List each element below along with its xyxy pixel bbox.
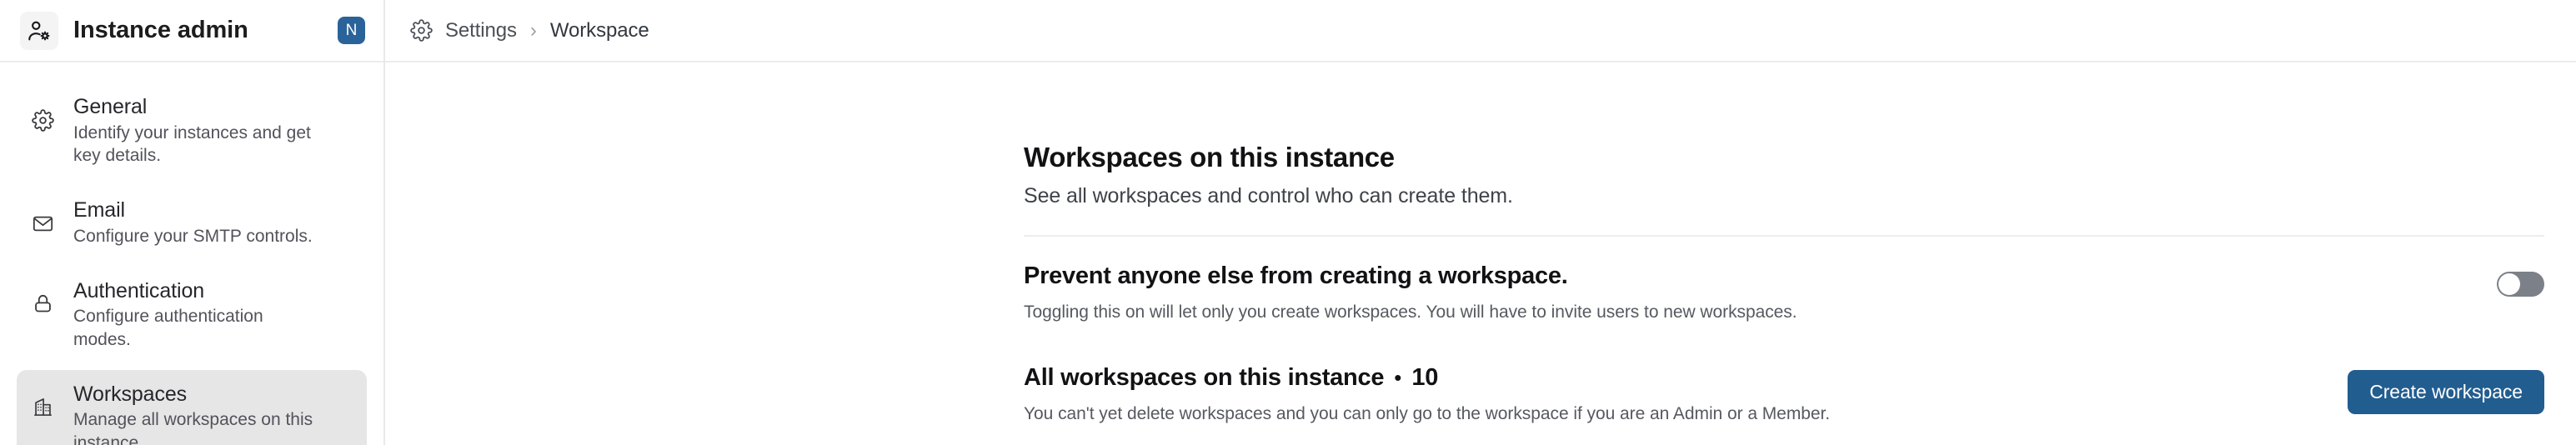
- envelope-icon: [28, 209, 57, 237]
- sidebar-item-desc: Configure your SMTP controls.: [73, 225, 313, 247]
- gear-icon: [28, 106, 57, 134]
- sidebar-item-email[interactable]: Email Configure your SMTP controls.: [17, 186, 367, 259]
- chevron-right-icon: ›: [530, 19, 537, 42]
- sidebar-item-label: Email: [73, 198, 125, 222]
- main-area: Settings › Workspace Workspaces on this …: [385, 0, 2576, 445]
- sidebar-item-text: General Identify your instances and get …: [73, 94, 323, 167]
- all-workspaces-heading: All workspaces on this instance • 10: [1024, 363, 1830, 392]
- all-workspaces-section: All workspaces on this instance • 10 You…: [1024, 323, 2544, 425]
- building-icon: [28, 393, 57, 422]
- page-title: Workspaces on this instance: [1024, 141, 2544, 174]
- instance-admin-icon: [20, 12, 58, 50]
- toggle-knob: [2498, 273, 2520, 295]
- sidebar-header: Instance admin N: [0, 0, 383, 62]
- all-workspaces-desc: You can't yet delete workspaces and you …: [1024, 402, 1830, 425]
- workspace-count: 10: [1411, 364, 1438, 392]
- intro-section: Workspaces on this instance See all work…: [1024, 62, 2544, 209]
- sidebar-item-text: Email Configure your SMTP controls.: [73, 197, 313, 247]
- create-workspace-button[interactable]: Create workspace: [2348, 370, 2544, 414]
- instance-badge[interactable]: N: [338, 17, 365, 44]
- all-workspaces-title: All workspaces on this instance: [1024, 363, 1384, 392]
- all-workspaces-text: All workspaces on this instance • 10 You…: [1024, 363, 1830, 425]
- sidebar-item-workspaces[interactable]: Workspaces Manage all workspaces on this…: [17, 370, 367, 445]
- breadcrumb: Settings › Workspace: [385, 0, 2576, 62]
- prevent-creation-title: Prevent anyone else from creating a work…: [1024, 262, 1797, 291]
- lock-icon: [28, 290, 57, 318]
- sidebar-item-label: General: [73, 95, 147, 118]
- breadcrumb-current: Workspace: [550, 19, 649, 42]
- sidebar-item-desc: Configure authentication modes.: [73, 305, 323, 351]
- sidebar-item-general[interactable]: General Identify your instances and get …: [17, 82, 367, 178]
- sidebar-item-label: Workspaces: [73, 382, 187, 406]
- sidebar-item-authentication[interactable]: Authentication Configure authentication …: [17, 267, 367, 362]
- prevent-creation-toggle[interactable]: [2497, 272, 2544, 297]
- content-column: Workspaces on this instance See all work…: [1024, 62, 2544, 425]
- separator-dot: •: [1394, 367, 1401, 388]
- instance-admin-page: Instance admin N General Identify your i…: [0, 0, 2576, 445]
- sidebar-nav: General Identify your instances and get …: [0, 62, 383, 445]
- sidebar-item-desc: Manage all workspaces on this instance.: [73, 408, 323, 445]
- sidebar-title: Instance admin: [73, 17, 248, 44]
- prevent-creation-desc: Toggling this on will let only you creat…: [1024, 301, 1797, 323]
- sidebar-item-text: Authentication Configure authentication …: [73, 278, 323, 351]
- sidebar-item-label: Authentication: [73, 279, 204, 302]
- prevent-creation-text: Prevent anyone else from creating a work…: [1024, 262, 1797, 323]
- sidebar-item-text: Workspaces Manage all workspaces on this…: [73, 382, 323, 445]
- sidebar: Instance admin N General Identify your i…: [0, 0, 385, 445]
- breadcrumb-settings[interactable]: Settings: [445, 19, 517, 42]
- sidebar-item-desc: Identify your instances and get key deta…: [73, 122, 323, 167]
- prevent-creation-section: Prevent anyone else from creating a work…: [1024, 237, 2544, 323]
- gear-icon: [408, 18, 434, 43]
- page-subtitle: See all workspaces and control who can c…: [1024, 183, 2544, 209]
